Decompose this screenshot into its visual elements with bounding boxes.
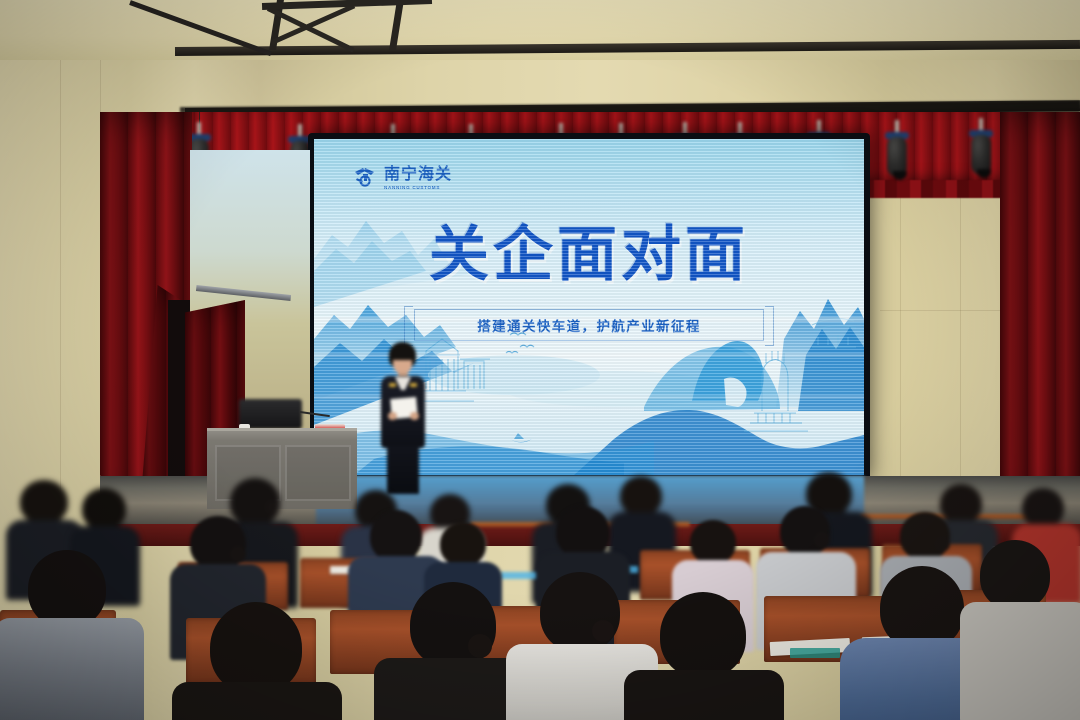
speaker-shoulder-insignia-right [410,383,417,387]
conference-hall-photo: 南宁海关 NANNING CUSTOMS 关企面对面 搭建通关快车道，护航产业新… [0,0,1080,720]
wall-horizontal-seam [880,310,1005,311]
slide-subtitle: 搭建通关快车道，护航产业新征程 [477,315,701,335]
moving-head-light [968,118,994,176]
nanning-customs-emblem-icon [352,165,378,191]
speaker-hand-right [410,412,419,420]
speaker-fringe [390,349,415,360]
audience-area: LEISURE [0,470,1080,720]
stage-curtain-right [1000,112,1080,507]
slide-logo-name-en: NANNING CUSTOMS [384,185,452,190]
slide-logo-name-cn: 南宁海关 [384,166,452,182]
slide-title: 关企面对面 [314,225,864,285]
speaker-shoulder-insignia-left [389,383,396,387]
moving-head-light [884,120,910,178]
slide-subtitle-frame: 搭建通关快车道，护航产业新征程 [414,309,764,341]
slide-logo: 南宁海关 NANNING CUSTOMS [352,165,452,191]
speaker-hand-left [388,412,397,420]
desk-paper-blue [790,648,840,658]
